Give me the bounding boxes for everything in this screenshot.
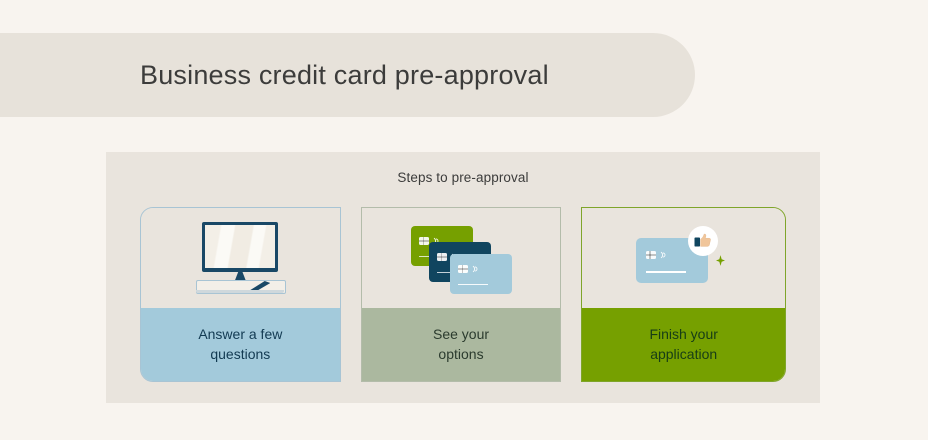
step-2-label-line2: options (438, 346, 483, 362)
step-1-label: Answer a few questions (141, 308, 340, 381)
desktop-monitor-icon (186, 222, 294, 294)
card-chip-icon (646, 251, 656, 259)
card-chip-icon (458, 265, 468, 273)
credit-cards-stack-icon (405, 222, 517, 294)
approval-badge (688, 226, 718, 256)
contactless-icon (471, 265, 479, 273)
card-stripe (646, 271, 686, 273)
step-card-see-options[interactable]: See your options (361, 207, 562, 382)
step-3-illustration (582, 208, 785, 308)
sparkle-icon (716, 255, 725, 266)
step-1-illustration (141, 208, 340, 308)
monitor-bezel (202, 222, 278, 272)
step-2-label: See your options (362, 308, 561, 381)
step-1-label-line1: Answer a few (198, 326, 282, 342)
credit-card-light-blue (450, 254, 512, 294)
step-1-label-line2: questions (210, 346, 270, 362)
step-card-finish-application[interactable]: Finish your application (581, 207, 786, 382)
monitor-screen-surface (205, 225, 275, 268)
step-3-label: Finish your application (582, 308, 785, 381)
step-2-illustration (362, 208, 561, 308)
contactless-icon (659, 251, 667, 259)
step-3-label-line1: Finish your (649, 326, 717, 342)
step-2-label-line1: See your (433, 326, 489, 342)
card-stripe (458, 284, 488, 286)
steps-row: Answer a few questions (140, 207, 786, 382)
card-chip-icon (437, 253, 447, 261)
steps-panel: Steps to pre-approval Answer a few (106, 152, 820, 403)
thumbs-up-icon (693, 231, 713, 251)
step-3-label-line2: application (650, 346, 717, 362)
card-chip-icon (419, 237, 429, 245)
header-banner: Business credit card pre-approval (0, 33, 695, 117)
keyboard-shadow (196, 290, 284, 293)
steps-subtitle: Steps to pre-approval (106, 152, 820, 185)
page-title: Business credit card pre-approval (140, 60, 549, 91)
step-card-answer-questions[interactable]: Answer a few questions (140, 207, 341, 382)
card-thumbs-up-icon (628, 222, 740, 294)
